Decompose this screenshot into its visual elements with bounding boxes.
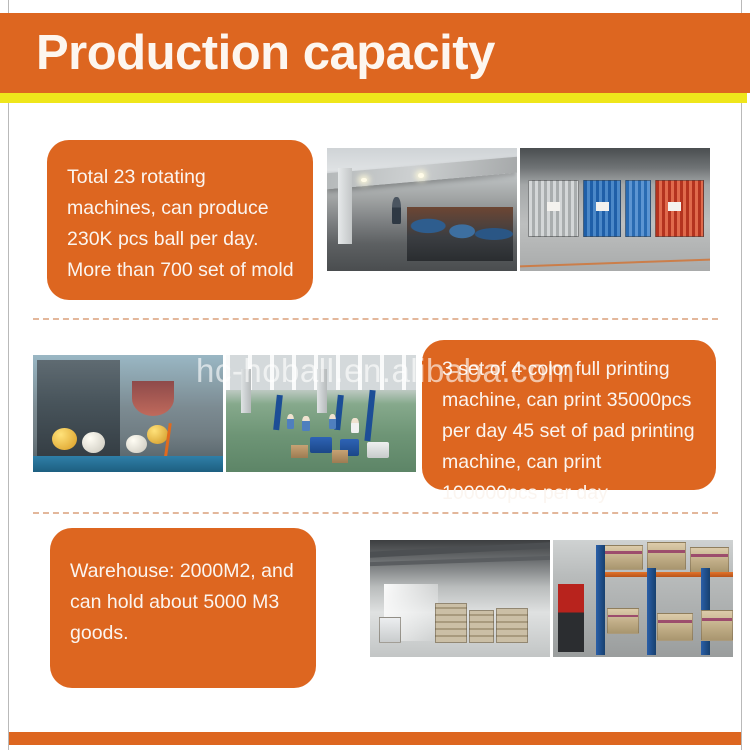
photo-carton — [291, 445, 308, 458]
section-divider — [33, 318, 718, 320]
photo-pillar — [338, 168, 351, 244]
photo-rack-post — [596, 545, 605, 655]
photo-worker — [329, 414, 337, 429]
page-title: Production capacity — [36, 29, 495, 78]
photo-pillar — [317, 369, 327, 413]
photo-carton — [690, 547, 730, 573]
photo-worker — [392, 197, 402, 224]
photo-rack-beam — [600, 572, 733, 578]
footer-bar — [9, 732, 741, 745]
section-divider — [33, 512, 718, 514]
photo-worker — [287, 414, 295, 429]
production-capacity-page: Production capacity Total 23 rotating ma… — [0, 0, 750, 750]
photo-forklift — [558, 584, 583, 652]
photo-group-printing — [33, 355, 416, 472]
callout-printing-machines: 3 set of 4 color full printing machine, … — [422, 340, 716, 490]
photo-rack-blue — [625, 180, 652, 237]
photo-label-tag — [547, 202, 560, 211]
photo-ball-mold — [52, 428, 77, 450]
photo-carton — [603, 545, 643, 571]
pallet-racking-photo — [553, 540, 733, 657]
page-border-right — [741, 0, 742, 750]
page-border-left — [8, 0, 9, 750]
photo-worker — [302, 416, 310, 431]
photo-mixing-vessel — [132, 381, 174, 416]
photo-rack-post — [647, 568, 656, 655]
photo-machine-frame — [37, 360, 121, 468]
photo-floor-marking — [520, 258, 710, 267]
photo-roof-beam — [370, 542, 550, 557]
callout-warehouse: Warehouse: 2000M2, and can hold about 50… — [50, 528, 316, 688]
photo-pallet-stack — [469, 610, 494, 643]
photo-ball-mold — [126, 435, 147, 454]
photo-bin — [310, 437, 333, 453]
photo-carton — [607, 608, 639, 634]
photo-pillar — [241, 369, 251, 413]
photo-carton — [701, 610, 733, 640]
photo-ball-mold — [147, 425, 168, 444]
photo-worker — [351, 418, 359, 433]
photo-lamp — [361, 178, 367, 183]
header-accent-strip — [0, 93, 750, 103]
photo-label-tag — [596, 202, 609, 211]
production-line-photo — [327, 148, 517, 271]
photo-pallet-stack — [435, 603, 467, 643]
callout-rotating-machines: Total 23 rotating machines, can produce … — [47, 140, 313, 300]
photo-label-tag — [668, 202, 681, 211]
photo-pallet-stack — [496, 608, 528, 643]
photo-carton — [332, 450, 347, 463]
photo-machine-base — [33, 456, 223, 472]
photo-bin — [367, 442, 390, 458]
photo-lamp — [418, 173, 424, 178]
photo-machine-arm — [364, 390, 375, 442]
molding-machine-photo — [33, 355, 223, 472]
photo-pallet-stack — [379, 617, 401, 643]
photo-group-production — [327, 148, 710, 271]
header-banner: Production capacity — [0, 13, 750, 93]
photo-carton — [657, 613, 693, 641]
photo-group-warehouse — [370, 540, 733, 657]
warehouse-aisle-photo — [370, 540, 550, 657]
photo-machine-arm — [274, 395, 283, 430]
photo-carton — [647, 542, 687, 570]
ball-storage-racks-photo — [520, 148, 710, 271]
photo-roof-beam — [370, 556, 550, 566]
assembly-workshop-photo — [226, 355, 416, 472]
